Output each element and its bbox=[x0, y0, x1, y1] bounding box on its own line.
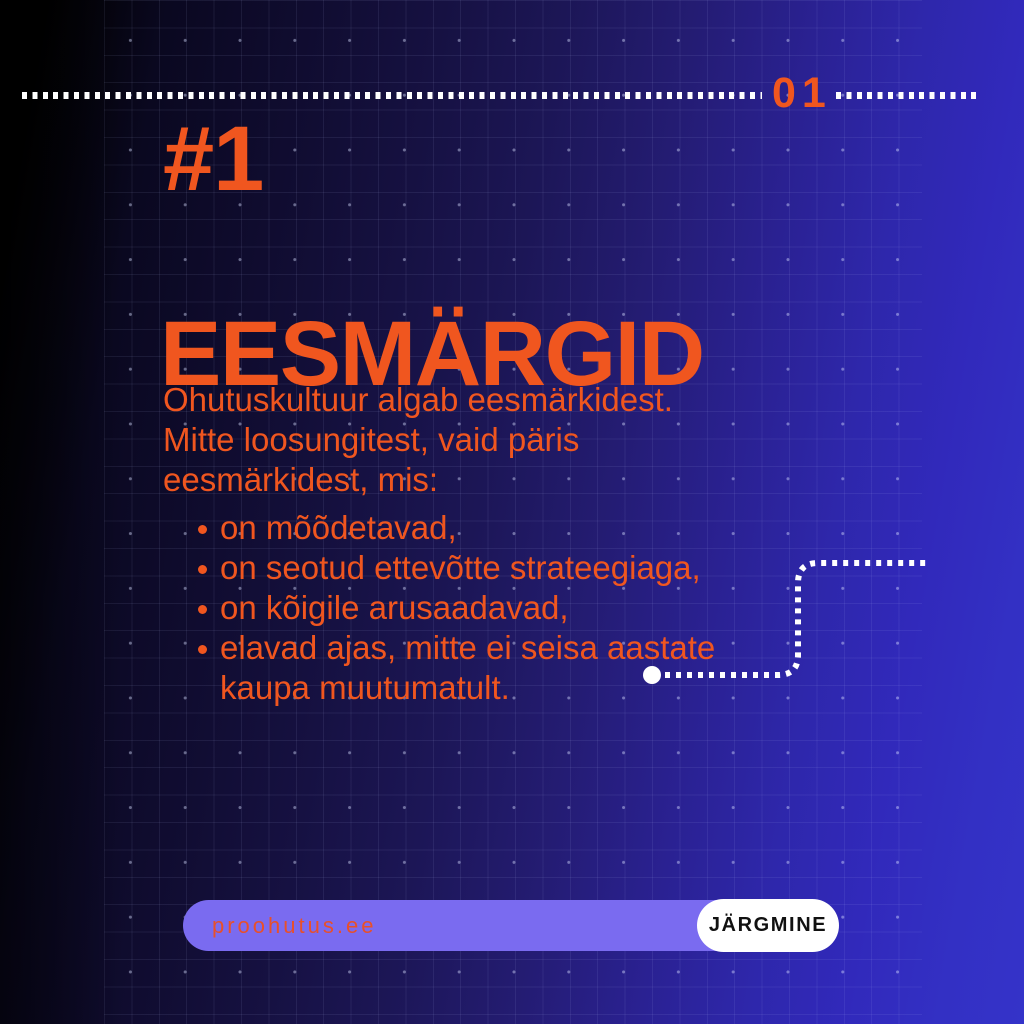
paragraph-line-1: Ohutuskultuur algab eesmärkidest. bbox=[163, 380, 763, 420]
next-button-label: JÄRGMINE bbox=[709, 914, 827, 937]
dotted-rule-left bbox=[22, 92, 762, 99]
paragraph-line-2: Mitte loosungitest, vaid päris bbox=[163, 420, 763, 460]
next-button[interactable]: JÄRGMINE bbox=[697, 899, 839, 952]
slide-canvas: 01 #1 EESMÄRGID Ohutuskultuur algab eesm… bbox=[0, 0, 1024, 1024]
paragraph-line-3: eesmärkidest, mis: bbox=[163, 460, 763, 500]
dotted-rule-right bbox=[836, 92, 979, 99]
connector-endpoint-dot bbox=[643, 666, 661, 684]
step-number: 01 bbox=[772, 72, 832, 115]
site-url-label: proohutus.ee bbox=[212, 912, 376, 940]
list-item: on mõõdetavad, bbox=[198, 508, 763, 548]
slide-index-label: #1 bbox=[163, 113, 263, 205]
dotted-connector-icon bbox=[636, 545, 936, 695]
